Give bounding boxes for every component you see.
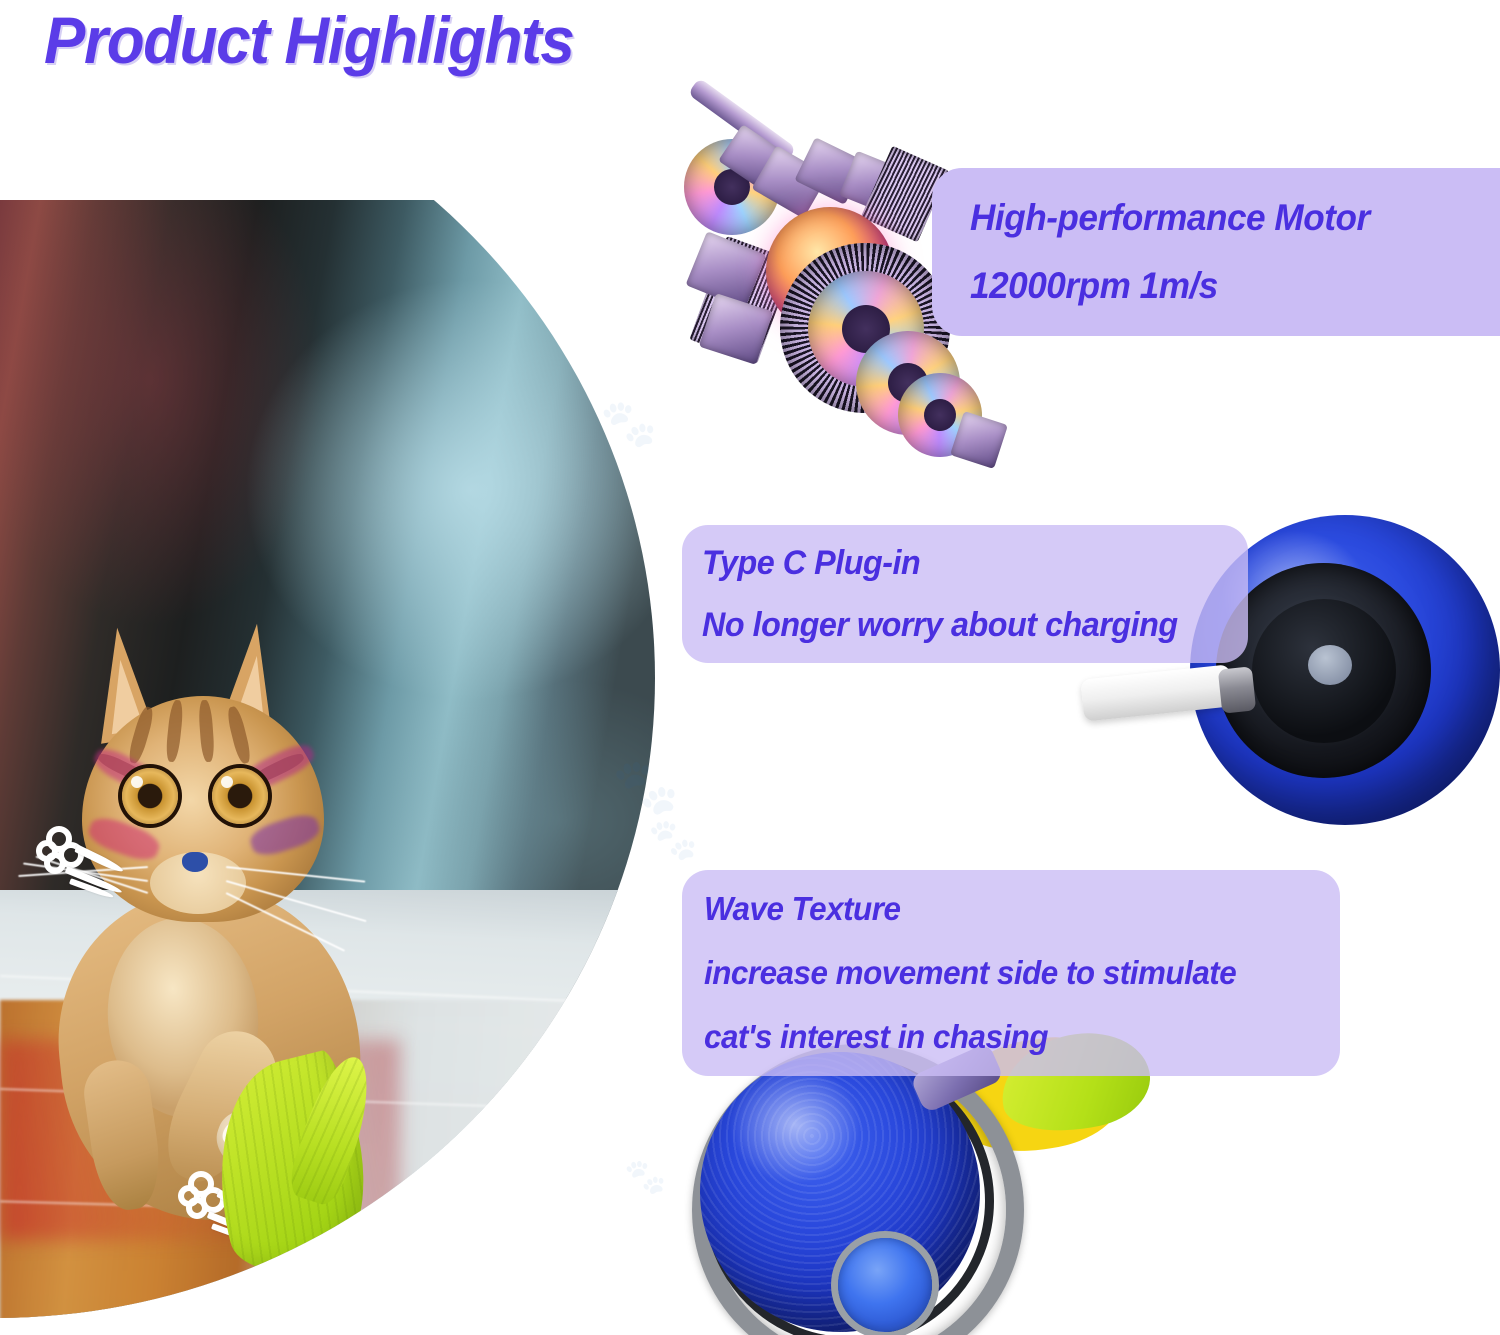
cat-stripe (225, 705, 253, 765)
callout-line: increase movement side to stimulate (704, 941, 1308, 1005)
cat-eye-left (122, 768, 178, 824)
ball-rim (316, 1212, 614, 1335)
hero-photo (0, 200, 690, 1335)
wave-texture-ball-image (700, 1052, 980, 1332)
ball-inner-ring (328, 1224, 584, 1335)
paw-print-watermark: 🐾 (612, 760, 679, 814)
callout-line: Type C Plug-in (702, 532, 1221, 594)
dust-puff-speed-icon (36, 820, 132, 904)
paw-print-watermark: 🐾 (624, 1160, 666, 1194)
ball-wheel (838, 1238, 932, 1332)
cat-nose (182, 852, 208, 872)
callout-line: High-performance Motor (970, 184, 1500, 252)
cat-stripe (198, 700, 215, 763)
paw-print-watermark: 🐾 (600, 400, 657, 446)
product-highlights-page: Product Highlights (0, 0, 1500, 1335)
cable-cord (1080, 664, 1234, 721)
callout-line: No longer worry about charging (702, 594, 1221, 656)
callout-line: cat's interest in chasing (704, 1005, 1308, 1069)
cat-stripe (165, 699, 184, 762)
callout-type-c-plug-in: Type C Plug-in No longer worry about cha… (682, 525, 1248, 663)
cat-eye-right (212, 768, 268, 824)
ball-sphere (322, 1218, 572, 1335)
page-title: Product Highlights (44, 2, 573, 78)
callout-high-performance-motor: High-performance Motor 12000rpm 1m/s (932, 168, 1500, 336)
usb-c-connector (1218, 666, 1256, 713)
feather-tail (214, 1062, 414, 1282)
callout-line: 12000rpm 1m/s (970, 252, 1500, 320)
callout-wave-texture: Wave Texture increase movement side to s… (682, 870, 1340, 1076)
charging-port-button (1308, 645, 1352, 685)
paw-print-watermark: 🐾 (648, 820, 698, 860)
product-ball-photo (322, 1218, 572, 1335)
callout-line: Wave Texture (704, 877, 1308, 941)
cat-color-fringe (247, 810, 323, 860)
